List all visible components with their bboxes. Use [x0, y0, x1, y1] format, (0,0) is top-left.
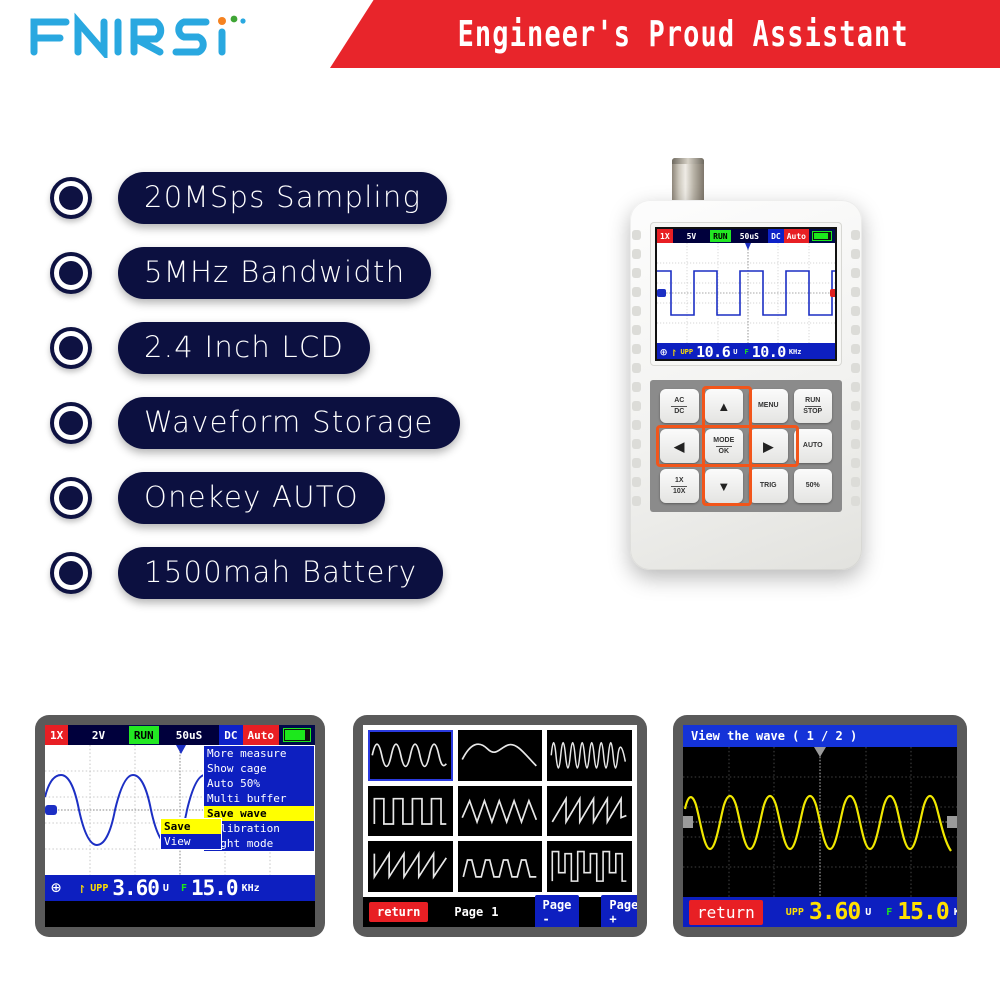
status-run-state[interactable]: RUN	[710, 230, 730, 242]
feature-item: Waveform Storage	[50, 385, 460, 460]
wave-thumbnail[interactable]	[547, 730, 632, 781]
s1-vpp-label: UPP	[90, 883, 108, 894]
s3-freq-value: 15.0	[897, 899, 948, 925]
key-label-bottom: STOP	[803, 408, 822, 415]
key-mode-ok[interactable]: MODE OK	[705, 429, 744, 463]
bullet-icon	[50, 477, 92, 519]
feature-label: 20MSps Sampling	[118, 172, 447, 224]
feature-label: Onekey AUTO	[118, 472, 385, 524]
s3-title-bar: View the wave ( 1 / 2 )	[683, 725, 957, 747]
arrow-left-icon: ◀	[674, 440, 684, 453]
key-run-stop[interactable]: RUN STOP	[794, 389, 833, 423]
feature-label: 1500mah Battery	[118, 547, 443, 599]
s3-vpp-label: UPP	[786, 907, 804, 918]
feature-label: Waveform Storage	[118, 397, 460, 449]
device-keypad: AC DC ▲ MENU RUN STOP	[650, 380, 842, 512]
key-trig[interactable]: TRIG	[749, 469, 788, 503]
s2-thumbnail-grid	[363, 725, 637, 897]
wave-thumbnail[interactable]	[368, 786, 453, 837]
key-label-top: AC	[674, 397, 684, 404]
grip-ridges-right	[851, 230, 860, 530]
key-label-bottom: DC	[674, 408, 684, 415]
device-body: 1X 5V RUN 50uS DC Auto	[630, 200, 862, 570]
arrow-down-icon: ▼	[717, 480, 730, 493]
s3-vpp-unit: U	[865, 907, 871, 918]
key-50-percent[interactable]: 50%	[794, 469, 833, 503]
freq-label: F	[744, 348, 748, 356]
feature-item: 20MSps Sampling	[50, 160, 460, 235]
key-ac-dc[interactable]: AC DC	[660, 389, 699, 423]
wave-thumbnail[interactable]	[458, 786, 543, 837]
s1-status-probe[interactable]: 1X	[45, 725, 68, 745]
key-label: AUTO	[803, 442, 823, 449]
header-banner: Engineer's Proud Assistant	[330, 0, 1000, 68]
s1-status-bar: 1X 2V RUN 50uS DC Auto	[45, 725, 315, 745]
menu-item[interactable]: Show cage	[204, 761, 314, 776]
rising-edge-icon: ↾	[77, 879, 86, 897]
screen-bezel: 1X 5V RUN 50uS DC Auto	[650, 222, 842, 366]
wave-thumbnail[interactable]	[368, 841, 453, 892]
key-label: 50%	[806, 482, 820, 489]
key-arrow-left[interactable]: ◀	[660, 429, 699, 463]
s1-status-timebase[interactable]: 50uS	[159, 725, 220, 745]
feature-item: 1500mah Battery	[50, 535, 460, 610]
key-label: MENU	[758, 402, 779, 409]
arrow-right-icon: ▶	[763, 440, 773, 453]
header-title: Engineer's Proud Assistant	[421, 13, 909, 54]
status-timebase[interactable]: 50uS	[731, 229, 769, 243]
key-label-bottom: 10X	[673, 488, 685, 495]
feature-list: 20MSps Sampling 5MHz Bandwidth 2.4 Inch …	[50, 160, 460, 610]
status-volts-div[interactable]: 5V	[673, 229, 711, 243]
page-number: 1	[491, 905, 498, 919]
s1-status-trigger-mode[interactable]: Auto	[243, 725, 280, 745]
page-label: Page	[454, 905, 483, 919]
feature-item: 2.4 Inch LCD	[50, 310, 460, 385]
key-label-top: 1X	[675, 477, 684, 484]
vpp-value: 10.6	[696, 343, 730, 361]
feature-item: 5MHz Bandwidth	[50, 235, 460, 310]
return-button[interactable]: return	[689, 900, 763, 925]
s3-freq-unit: KHz	[954, 907, 957, 918]
lcd-measure-bar: ⊕ ↾ UPP 10.6 U F 10.0 KHz	[657, 343, 835, 361]
key-menu[interactable]: MENU	[749, 389, 788, 423]
vpp-label: UPP	[680, 348, 693, 356]
lcd-waveform-area	[657, 243, 835, 343]
s1-waveform-area: More measure Show cage Auto 50% Multi bu…	[45, 745, 315, 875]
page-header: Engineer's Proud Assistant	[0, 0, 1000, 75]
s3-measure-bar: return UPP 3.60 U F 15.0 KHz	[683, 897, 957, 927]
menu-item[interactable]: More measure	[204, 746, 314, 761]
return-button[interactable]: return	[369, 902, 428, 922]
key-arrow-down[interactable]: ▼	[705, 469, 744, 503]
key-1x-10x[interactable]: 1X 10X	[660, 469, 699, 503]
s1-status-run-state[interactable]: RUN	[129, 726, 159, 744]
s3-freq-label: F	[886, 907, 892, 918]
wave-thumbnail[interactable]	[458, 730, 543, 781]
freq-unit: KHz	[789, 348, 802, 356]
s1-freq-unit: KHz	[242, 883, 260, 894]
wave-thumbnail[interactable]	[547, 786, 632, 837]
key-arrow-right[interactable]: ▶	[749, 429, 788, 463]
rising-edge-icon: ↾	[670, 345, 677, 359]
arrow-up-icon: ▲	[717, 400, 730, 413]
s2-navigation-bar: return Page 1 Page - Page +	[363, 897, 637, 927]
crosshair-icon: ⊕	[660, 345, 667, 359]
menu-item[interactable]: Multi buffer	[204, 791, 314, 806]
s1-vpp-value: 3.60	[112, 876, 159, 900]
key-label: TRIG	[760, 482, 777, 489]
screenshot-view-wave: View the wave ( 1 / 2 )	[673, 715, 967, 937]
s1-freq-value: 15.0	[191, 876, 238, 900]
key-arrow-up[interactable]: ▲	[705, 389, 744, 423]
status-trigger-mode[interactable]: Auto	[784, 229, 809, 243]
fnirsi-logo	[26, 12, 256, 58]
s1-measure-bar: ⊕ ↾ UPP 3.60 U F 15.0 KHz	[45, 875, 315, 901]
wave-thumbnail[interactable]	[547, 841, 632, 892]
submenu-item[interactable]: View	[161, 834, 221, 849]
freq-value: 10.0	[752, 343, 786, 361]
status-probe[interactable]: 1X	[657, 229, 673, 243]
screenshot-wave-browser: return Page 1 Page - Page +	[353, 715, 647, 937]
vpp-unit: U	[733, 348, 737, 356]
oscilloscope-device: 1X 5V RUN 50uS DC Auto	[600, 140, 900, 600]
status-coupling[interactable]: DC	[768, 229, 784, 243]
battery-icon	[812, 231, 832, 241]
s1-status-volts-div[interactable]: 2V	[68, 725, 129, 745]
s1-status-coupling[interactable]: DC	[219, 725, 242, 745]
key-label-top: RUN	[805, 397, 820, 404]
lcd-status-bar: 1X 5V RUN 50uS DC Auto	[657, 229, 835, 243]
product-marketing-page: Engineer's Proud Assistant 20MSps Sampli…	[0, 0, 1000, 1000]
key-label-bottom: OK	[719, 448, 730, 455]
wave-thumbnail[interactable]	[458, 841, 543, 892]
s3-waveform-area	[683, 747, 957, 897]
page-next-button[interactable]: Page +	[601, 895, 637, 927]
s1-freq-label: F	[181, 883, 187, 894]
bullet-icon	[50, 552, 92, 594]
battery-icon	[283, 728, 311, 742]
wave-thumbnail[interactable]	[368, 730, 453, 781]
bullet-icon	[50, 327, 92, 369]
page-prev-button[interactable]: Page -	[535, 895, 580, 927]
s3-vpp-value: 3.60	[809, 899, 860, 925]
bullet-icon	[50, 402, 92, 444]
bullet-icon	[50, 177, 92, 219]
s1-submenu: Save View	[160, 818, 222, 850]
device-lcd: 1X 5V RUN 50uS DC Auto	[655, 227, 837, 361]
key-auto[interactable]: AUTO	[794, 429, 833, 463]
bullet-icon	[50, 252, 92, 294]
menu-item[interactable]: Auto 50%	[204, 776, 314, 791]
crosshair-icon: ⊕	[51, 878, 61, 898]
grip-ridges-left	[632, 230, 641, 530]
screenshot-menu: 1X 2V RUN 50uS DC Auto	[35, 715, 325, 937]
submenu-item-selected[interactable]: Save	[161, 819, 221, 834]
feature-item: Onekey AUTO	[50, 460, 460, 535]
feature-label: 5MHz Bandwidth	[118, 247, 431, 299]
s1-vpp-unit: U	[163, 883, 169, 894]
key-label-top: MODE	[713, 437, 734, 444]
feature-label: 2.4 Inch LCD	[118, 322, 370, 374]
